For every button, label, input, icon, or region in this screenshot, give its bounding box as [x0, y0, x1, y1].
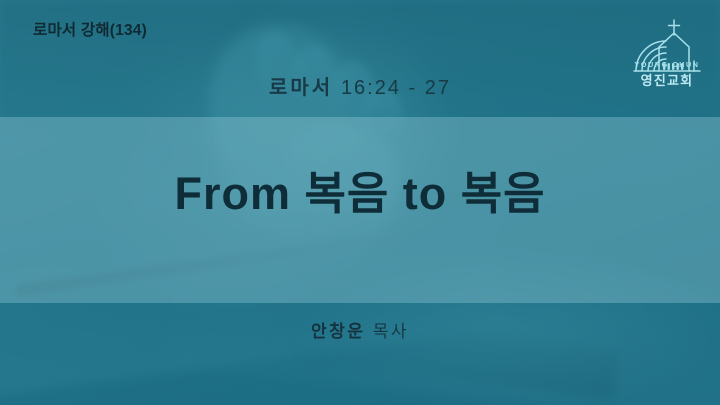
scripture-reference: 로마서 16:24 - 27	[0, 71, 720, 100]
church-logo: YOUNG CHUN 영진교회	[628, 8, 706, 90]
speaker-line: 안창운 목사	[0, 317, 720, 342]
speaker-name: 안창운	[311, 322, 365, 341]
logo-wordmark: YOUNG CHUN	[628, 60, 706, 69]
scripture-book: 로마서	[269, 77, 333, 99]
scripture-verse: 16:24 - 27	[341, 77, 451, 99]
logo-korean-name: 영진교회	[628, 70, 706, 89]
sermon-title-slide: 로마서 강해(134) 로마서 16:24 - 27 From 복음 to 복음…	[0, 0, 720, 405]
sermon-title: From 복음 to 복음	[0, 168, 720, 220]
speaker-role: 목사	[373, 322, 409, 341]
series-label: 로마서 강해(134)	[33, 18, 147, 40]
